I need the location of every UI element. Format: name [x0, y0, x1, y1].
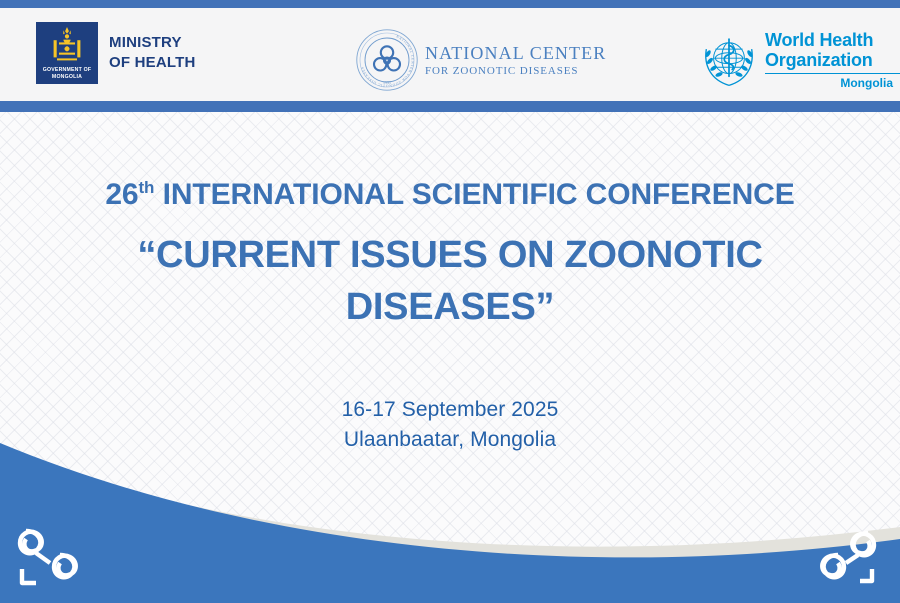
footer-wave-decoration [0, 443, 900, 603]
mongolian-ulzii-knot-ornament-icon [10, 521, 106, 595]
conference-title: “CURRENT ISSUES ON ZOONOTIC DISEASES” [0, 229, 900, 333]
crest-caption: GOVERNMENT OF MONGOLIA [36, 67, 98, 81]
who-wordmark: World Health Organization Mongolia [765, 30, 900, 90]
who-logo: World Health Organization Mongolia [700, 30, 900, 90]
conference-number: 26 [105, 178, 138, 211]
svg-text:1931: 1931 [383, 80, 391, 85]
conference-date: 16-17 September 2025 [0, 395, 900, 425]
conference-ordinal-suffix: th [138, 178, 154, 197]
conference-number-line: 26th INTERNATIONAL SCIENTIFIC CONFERENCE [0, 170, 900, 213]
who-emblem-icon [700, 31, 758, 89]
title-text-block: 26th INTERNATIONAL SCIENTIFIC CONFERENCE… [0, 112, 900, 455]
conference-label: INTERNATIONAL SCIENTIFIC CONFERENCE [163, 178, 795, 211]
national-center-zoonotic-diseases-logo: NATIONAL CENTER FOR ZOONOTIC DISEASES 19… [355, 28, 606, 92]
national-center-wordmark: NATIONAL CENTER FOR ZOONOTIC DISEASES [425, 43, 606, 78]
conference-title-slide: GOVERNMENT OF MONGOLIA MINISTRY OF HEALT… [0, 0, 900, 603]
header-separator-rule [0, 101, 900, 112]
conference-meta: 16-17 September 2025 Ulaanbaatar, Mongol… [0, 395, 900, 455]
biohazard-circular-seal-icon: NATIONAL CENTER FOR ZOONOTIC DISEASES 19… [355, 28, 419, 92]
who-wordmark-rule [765, 73, 900, 74]
mongolia-state-emblem-soyombo-icon: GOVERNMENT OF MONGOLIA [36, 22, 98, 84]
top-accent-rule [0, 0, 900, 8]
conference-location: Ulaanbaatar, Mongolia [0, 425, 900, 455]
ministry-of-health-wordmark: MINISTRY OF HEALTH [109, 33, 196, 73]
logo-header-band: GOVERNMENT OF MONGOLIA MINISTRY OF HEALT… [0, 8, 900, 101]
mongolian-ulzii-knot-ornament-icon [800, 525, 882, 591]
ministry-of-health-logo: GOVERNMENT OF MONGOLIA MINISTRY OF HEALT… [36, 22, 196, 84]
